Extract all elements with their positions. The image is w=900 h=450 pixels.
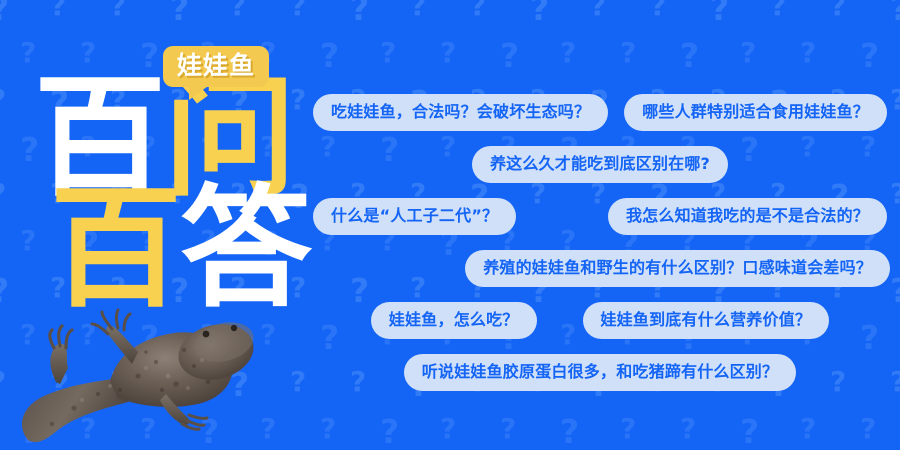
question-mark-icon: ? <box>50 368 69 401</box>
badge-tail-icon <box>189 84 211 100</box>
question-bubble[interactable]: 娃娃鱼，怎么吃？ <box>371 302 537 339</box>
question-bubble-row: 什么是“人工子二代”？我怎么知道我吃的是不是合法的？ <box>300 198 900 235</box>
question-mark-icon: ? <box>230 368 249 401</box>
question-bubble[interactable]: 什么是“人工子二代”？ <box>313 198 516 235</box>
question-bubble-row: 娃娃鱼，怎么吃？娃娃鱼到底有什么营养价值？ <box>300 302 900 339</box>
question-bubble[interactable]: 养殖的娃娃鱼和野生的有什么区别？口感味道会差吗？ <box>465 250 890 287</box>
question-mark-icon: ? <box>80 415 96 443</box>
question-bubble-row: 吃娃娃鱼，合法吗？会破坏生态吗？哪些人群特别适合食用娃娃鱼？ <box>300 94 900 131</box>
question-mark-icon: ? <box>200 415 219 448</box>
question-bubble[interactable]: 我怎么知道我吃的是不是合法的？ <box>608 198 887 235</box>
question-bubble[interactable]: 娃娃鱼到底有什么营养价值？ <box>583 302 830 339</box>
question-bubble[interactable]: 吃娃娃鱼，合法吗？会破坏生态吗？ <box>313 94 608 131</box>
question-bubble-row: 养这么久才能吃到底区别在哪? <box>300 146 900 183</box>
question-mark-icon: ? <box>170 368 186 396</box>
question-mark-icon: ? <box>260 415 276 443</box>
title-char-bai-2: 百 <box>50 189 180 310</box>
question-bubble-list: 吃娃娃鱼，合法吗？会破坏生态吗？哪些人群特别适合食用娃娃鱼？养这么久才能吃到底区… <box>300 0 900 450</box>
question-mark-icon: ? <box>20 321 36 349</box>
question-bubble[interactable]: 听说娃娃鱼胶原蛋白很多，和吃猪蹄有什么区别？ <box>404 354 796 391</box>
question-mark-icon: ? <box>170 0 189 25</box>
title-line-2: 百 答 <box>50 189 314 310</box>
question-mark-icon: ? <box>0 180 6 208</box>
question-mark-icon: ? <box>140 415 156 443</box>
title-char-da: 答 <box>180 189 310 310</box>
topic-badge: 娃娃鱼 <box>163 46 269 87</box>
question-bubble-row: 听说娃娃鱼胶原蛋白很多，和吃猪蹄有什么区别？ <box>300 354 900 391</box>
question-mark-icon: ? <box>0 368 6 396</box>
question-mark-icon: ? <box>0 274 9 307</box>
question-mark-icon: ? <box>230 0 246 20</box>
question-mark-icon: ? <box>110 368 126 396</box>
question-mark-icon: ? <box>0 0 9 25</box>
question-bubble[interactable]: 哪些人群特别适合食用娃娃鱼？ <box>624 94 887 131</box>
page-title: 百 问 百 答 <box>34 78 314 311</box>
question-mark-icon: ? <box>0 86 6 114</box>
question-bubble[interactable]: 养这么久才能吃到底区别在哪? <box>472 146 728 183</box>
poster-canvas: ????????????????????????????????????????… <box>0 0 900 450</box>
question-bubble-row: 养殖的娃娃鱼和野生的有什么区别？口感味道会差吗？ <box>300 250 900 287</box>
topic-badge-label: 娃娃鱼 <box>177 51 255 80</box>
question-mark-icon: ? <box>110 0 126 20</box>
question-mark-icon: ? <box>20 415 39 448</box>
question-mark-icon: ? <box>50 0 66 20</box>
